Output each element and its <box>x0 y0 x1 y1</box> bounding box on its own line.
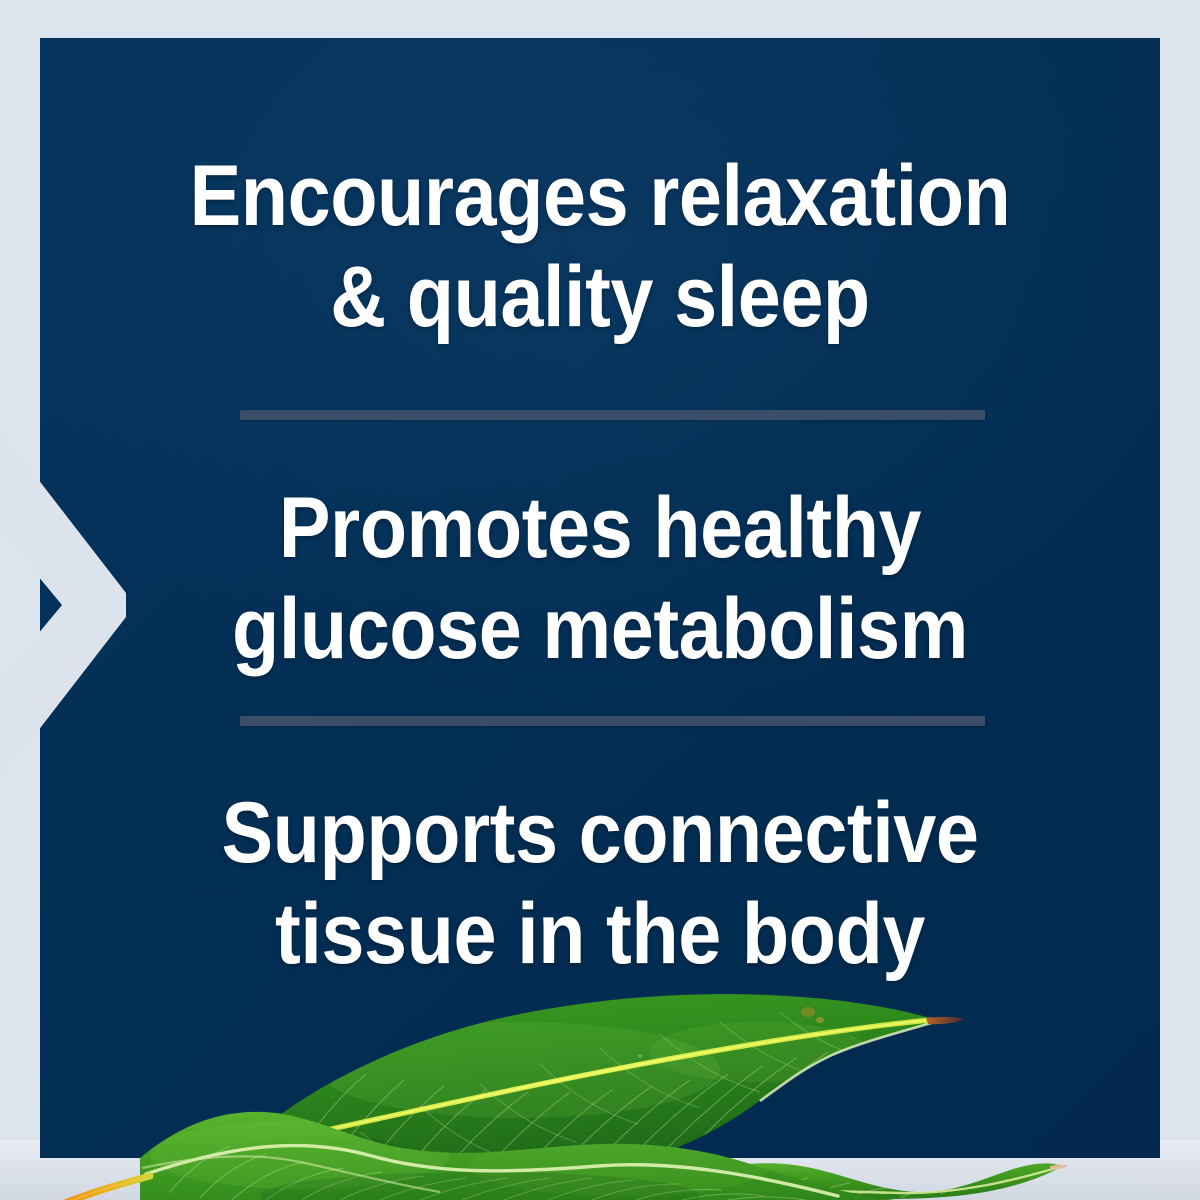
chevron-right-icon <box>0 430 140 780</box>
infographic-canvas: Encourages relaxation & quality sleep Pr… <box>0 0 1200 1200</box>
mango-leaves-illustration <box>0 960 1200 1200</box>
